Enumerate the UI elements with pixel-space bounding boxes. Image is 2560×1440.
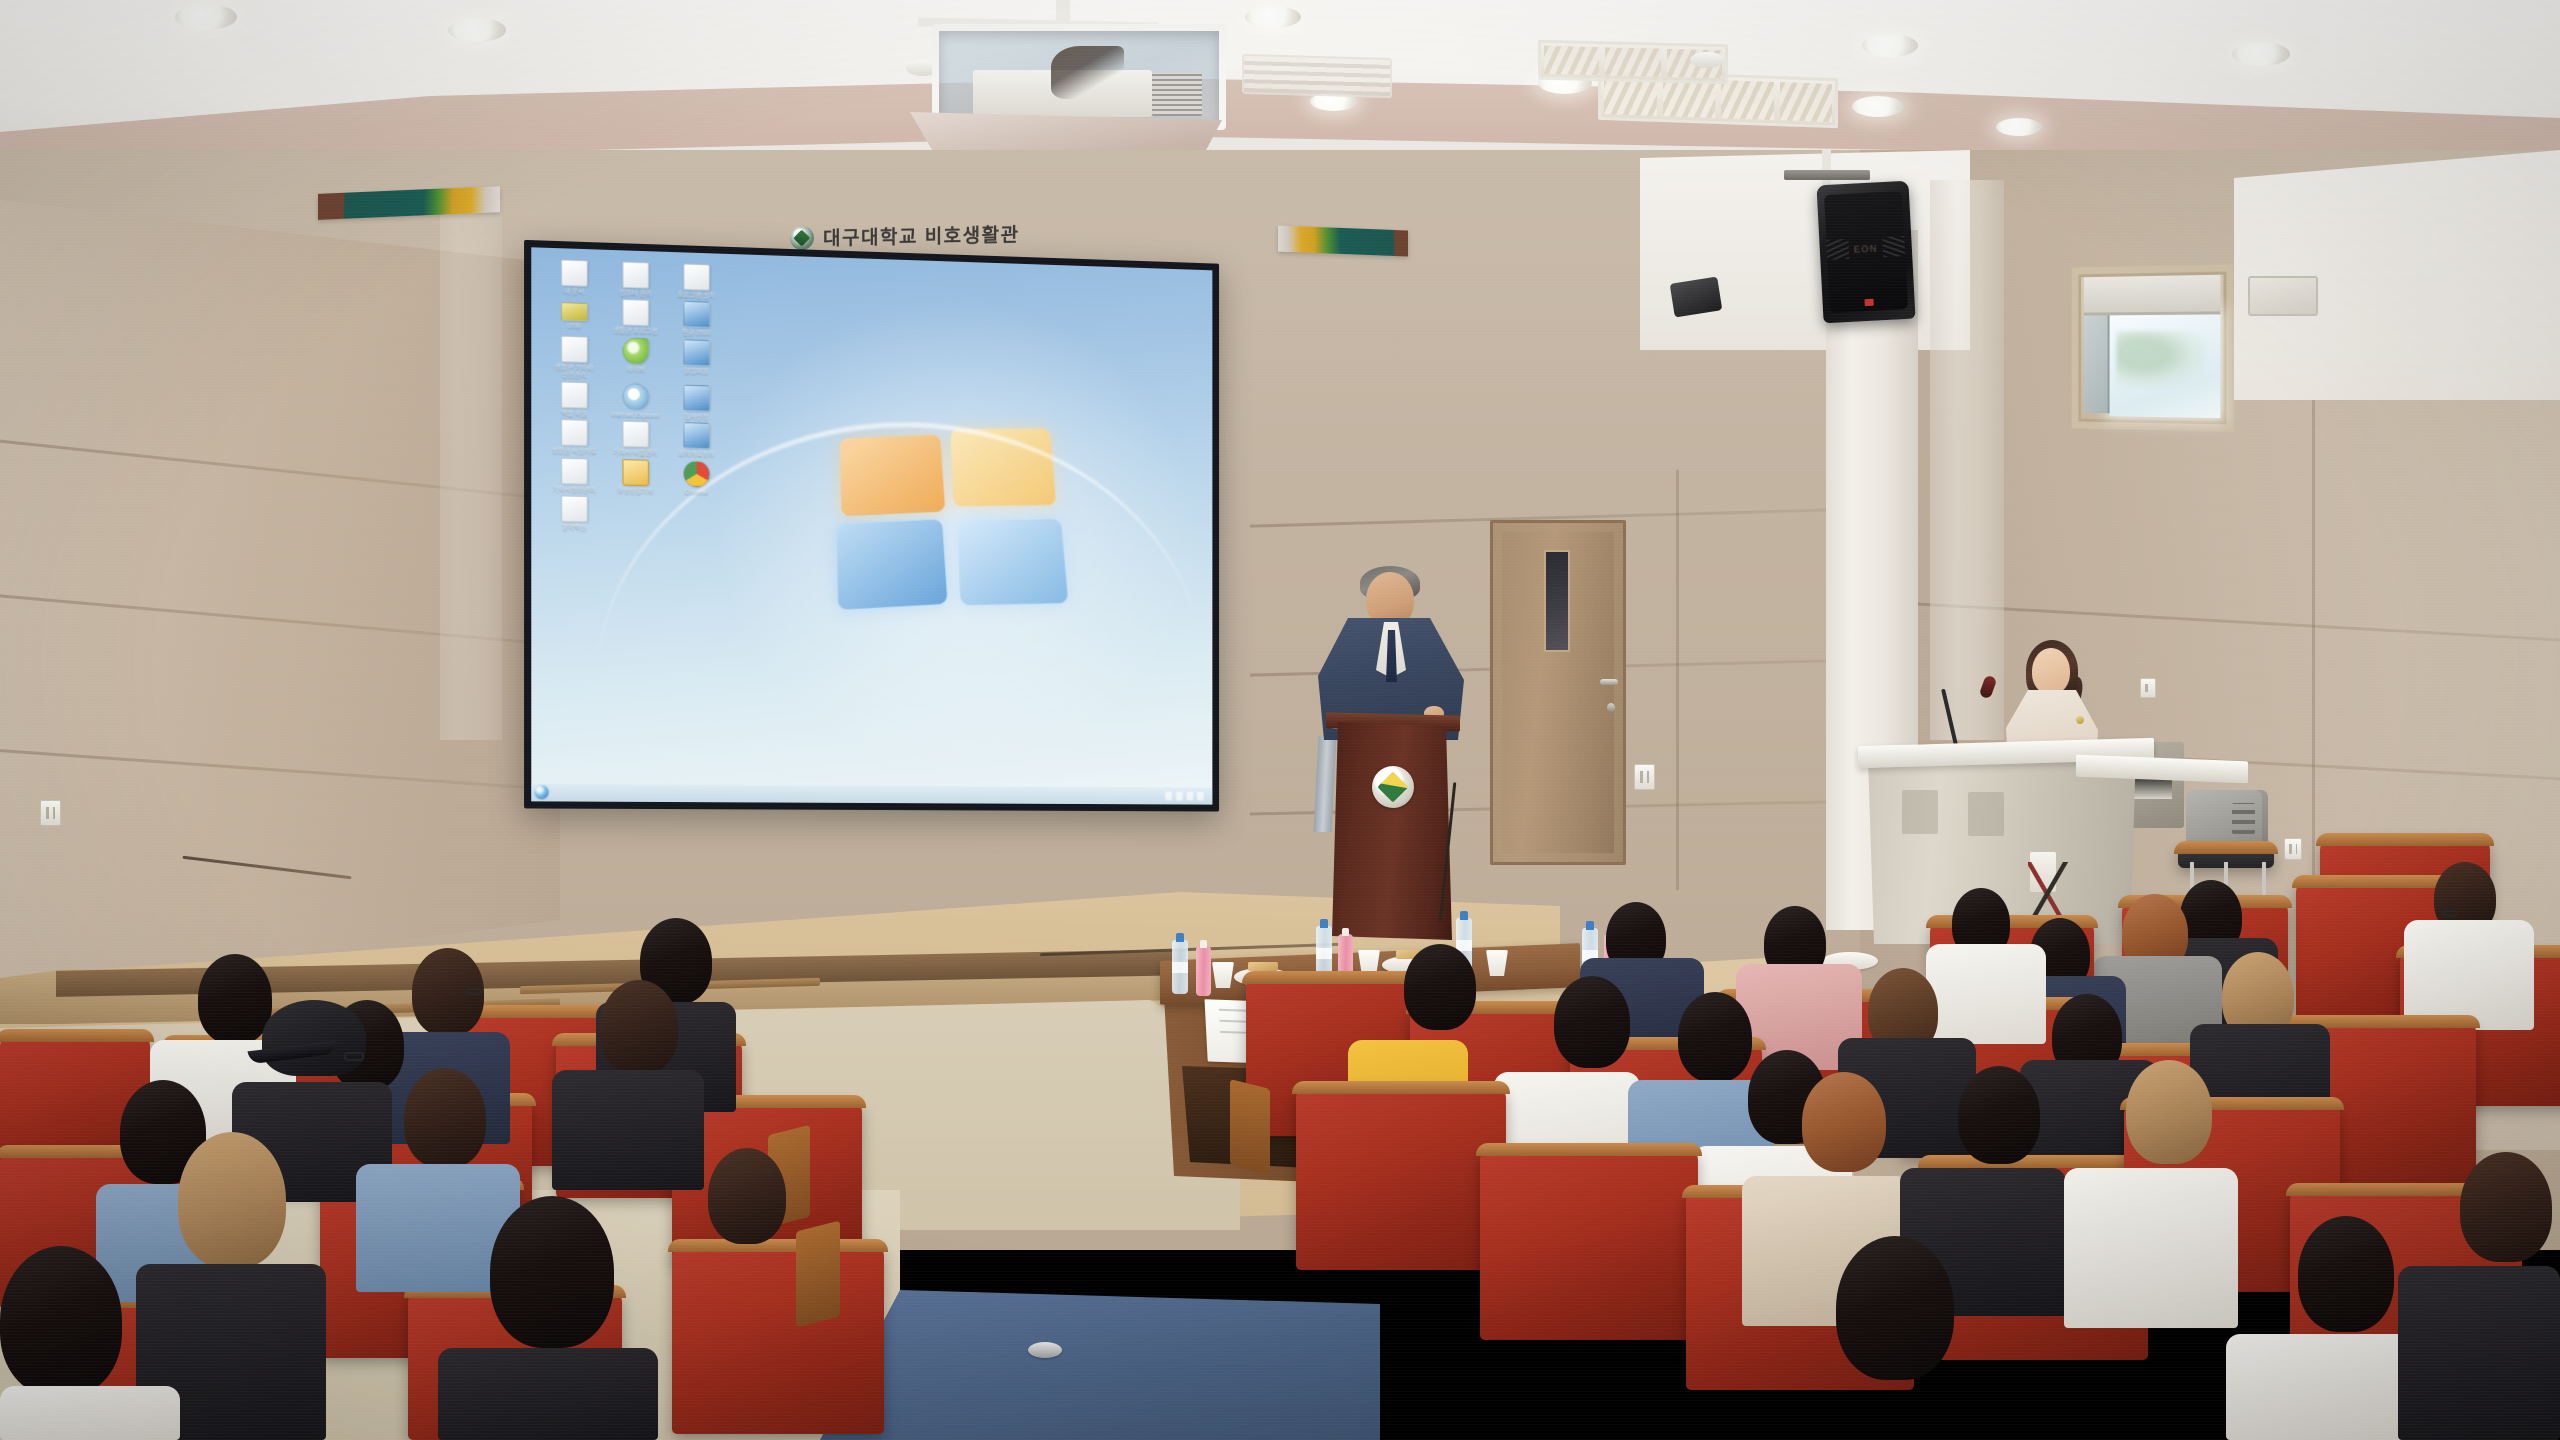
attendee-head — [2126, 1060, 2212, 1164]
tray-icon[interactable] — [1176, 792, 1183, 801]
desktop-icon[interactable]: 알약백신 — [545, 495, 602, 532]
presenter-head — [2032, 648, 2070, 694]
attendee-head — [490, 1196, 614, 1348]
desktop-icon-label: 컴퓨터 관리 — [607, 289, 664, 298]
air-vent-icon — [1242, 54, 1392, 98]
downlight-icon — [1852, 96, 1904, 117]
attendee-torso — [552, 1070, 704, 1190]
attendee-head — [600, 980, 678, 1074]
g-doc-icon — [683, 263, 709, 290]
desktop-icon-label: Chrome — [668, 488, 725, 497]
floor-cable-port-icon[interactable] — [1028, 1342, 1062, 1358]
g-doc-icon — [561, 496, 588, 523]
desktop-icon[interactable]: Chrome — [668, 460, 725, 497]
building-name-sign: 대구대학교 비호생활관 — [790, 220, 1020, 251]
desktop-icon-row: 알약백신 — [545, 495, 932, 538]
window-foliage-view — [2116, 331, 2206, 388]
seat-armrest — [1230, 1079, 1270, 1175]
attendee-head — [1554, 976, 1630, 1068]
power-outlet-icon[interactable] — [1634, 764, 1655, 790]
attendee-head — [1802, 1072, 1886, 1172]
g-doc-icon — [561, 259, 588, 286]
system-tray[interactable] — [1165, 792, 1207, 801]
screen-surface: 내 문서컴퓨터 관리프로그램 설치USB생활관 프로그램한글 2010생활관 기… — [531, 247, 1212, 804]
smoke-detector-icon — [1690, 52, 1724, 68]
g-blue-icon — [683, 423, 709, 450]
window-glass — [2110, 311, 2220, 418]
auditorium-seat[interactable] — [1296, 1086, 1506, 1270]
desktop-icon[interactable]: USB — [545, 297, 602, 335]
desktop-icon-label: 알약백신 — [545, 524, 602, 533]
tray-icon[interactable] — [1165, 792, 1172, 801]
desk-panel — [1968, 792, 2004, 836]
desktop-icon-row: 생활관 사진자료기숙사 비품관리회의자료정리 — [545, 419, 932, 464]
university-emblem-icon — [790, 225, 814, 249]
wall-seam — [2312, 340, 2315, 880]
presenter-lapel-pin — [2076, 716, 2084, 724]
attendee-torso — [2226, 1334, 2426, 1440]
attendee-head — [1678, 992, 1752, 1082]
desktop-icon-label: 알집파일 — [668, 367, 725, 376]
downlight-icon — [448, 18, 506, 42]
desktop-icon[interactable]: 입사신청 — [668, 384, 725, 421]
desktop-icon-label: 한글 2010 — [668, 329, 725, 338]
upper-wall-white — [2234, 150, 2560, 400]
attendee-head — [1958, 1066, 2040, 1164]
room-door[interactable] — [1490, 520, 1626, 865]
desk-panel — [1902, 790, 1938, 834]
aisle-runner — [820, 1290, 1380, 1440]
tray-icon[interactable] — [1186, 792, 1193, 801]
desktop-icon-row: 생활관 기숙사 신청관리네이버알집파일 — [545, 335, 932, 389]
g-doc-icon — [622, 299, 648, 326]
g-doc-icon — [622, 421, 648, 448]
lectern-emblem-icon — [1372, 766, 1414, 808]
attendee-head — [404, 1068, 486, 1168]
desktop-icon[interactable]: Internet Explorer — [607, 383, 664, 420]
eyeglasses-icon — [466, 988, 482, 995]
projector-vent-grill — [1152, 73, 1202, 115]
start-button-icon[interactable] — [534, 785, 548, 799]
wall-seam — [1676, 470, 1679, 890]
desktop-icon-label: 프로그램 설치 — [668, 291, 725, 300]
desktop-icon-label: 생활관 기숙사 신청관리 — [545, 364, 602, 381]
desktop-icon[interactable]: 회의자료정리 — [668, 422, 725, 459]
door-vision-panel — [1544, 550, 1570, 652]
g-blue-icon — [683, 301, 709, 328]
downlight-icon — [175, 4, 237, 30]
g-doc-icon — [561, 381, 588, 408]
attendee-cap — [262, 1000, 366, 1076]
desktop-icon[interactable]: 한글 2010 — [668, 301, 725, 339]
upper-wall-white — [1640, 150, 1970, 350]
tray-icon[interactable] — [1197, 792, 1204, 801]
attendee-head — [1836, 1236, 1954, 1380]
window-side-pane — [2084, 315, 2110, 413]
desktop-icon-label: 기숙사행정관리 — [545, 486, 602, 495]
desktop-icon[interactable]: 네이버 — [607, 337, 664, 382]
desktop-icon-label: Internet Explorer — [607, 411, 664, 420]
desktop-grid-spacer — [729, 265, 825, 304]
desktop-icon[interactable]: 학생상담기록 — [607, 459, 664, 496]
speaker-logo-badge — [1865, 299, 1874, 306]
desktop-icon-label: 학생상담기록 — [607, 487, 664, 496]
attendee-head — [198, 954, 272, 1044]
building-name-text: 대구대학교 비호생활관 — [823, 220, 1020, 251]
desktop-icon[interactable]: 생활관 기숙사 신청관리 — [545, 335, 602, 380]
desktop-icon-row: 기숙사행정관리학생상담기록Chrome — [545, 457, 932, 501]
downlight-icon — [1862, 34, 1918, 57]
auditorium-photo: 대구대학교 비호생활관 내 문서컴퓨터 관리프로그램 설치USB생활관 프로그램… — [0, 0, 2560, 1440]
pink-drink-bottle[interactable] — [1196, 946, 1211, 996]
desktop-icon[interactable]: 내 문서 — [545, 259, 602, 297]
power-outlet-icon[interactable] — [40, 800, 61, 826]
eyeglasses-icon — [2442, 910, 2458, 917]
desktop-icon-label: 내 문서 — [545, 287, 602, 296]
auditorium-seat[interactable] — [672, 1244, 884, 1434]
window-roller-blind[interactable] — [2084, 275, 2220, 316]
desktop-icon[interactable]: 알집파일 — [668, 339, 725, 384]
g-ie-icon — [622, 383, 648, 410]
desktop-icon[interactable]: 컴퓨터 관리 — [607, 261, 664, 299]
speaker-port-right — [1882, 236, 1905, 257]
power-outlet-icon[interactable] — [2140, 678, 2156, 698]
attendee-head — [2298, 1216, 2394, 1332]
desktop-icon-label: 네이버 — [607, 365, 664, 374]
attendee-torso — [0, 1386, 180, 1440]
exterior-window — [2072, 264, 2234, 431]
structural-pillar — [440, 200, 502, 740]
downlight-icon — [2232, 42, 2290, 66]
projector-cables — [1051, 46, 1124, 99]
speaker-brand-text: EON — [1854, 243, 1879, 254]
desktop-icon-label: 생활관 프로그램 — [607, 327, 664, 336]
g-usb-icon — [561, 303, 588, 322]
g-chrome-icon — [683, 460, 709, 487]
attendee-torso — [1926, 944, 2046, 1044]
g-doc-icon — [622, 261, 648, 288]
attendee-head — [708, 1148, 786, 1244]
wall-control-panel[interactable] — [2248, 276, 2318, 316]
desktop-icon-label: 기숙사 비품관리 — [607, 449, 664, 458]
speaker-mount-plate — [1784, 170, 1870, 180]
auditorium-seat[interactable] — [1480, 1148, 1698, 1340]
eyeglasses-icon — [344, 1052, 364, 1061]
windows-taskbar[interactable] — [531, 784, 1212, 805]
downlight-icon — [1996, 118, 2042, 136]
downlight-icon — [1245, 6, 1301, 28]
attendee-head — [0, 1246, 122, 1396]
door-lock-icon[interactable] — [1607, 703, 1615, 712]
lectern — [1332, 722, 1452, 940]
attendee-torso — [2404, 920, 2534, 1030]
g-doc-icon — [561, 336, 588, 363]
attendee-head — [2460, 1152, 2552, 1262]
desktop-icon-label: 입사신청 — [668, 413, 725, 422]
g-folder-icon — [622, 459, 648, 486]
seat-armrest — [796, 1221, 840, 1328]
desktop-icon-grid: 내 문서컴퓨터 관리프로그램 설치USB생활관 프로그램한글 2010생활관 기… — [545, 259, 932, 541]
desktop-icon[interactable]: 프로그램 설치 — [668, 263, 725, 301]
g-blue-icon — [683, 385, 709, 412]
desktop-icon-label: 엑셀 파일 — [545, 409, 602, 418]
desktop-icon[interactable]: 기숙사행정관리 — [545, 457, 602, 494]
pa-loudspeaker: EON — [1816, 181, 1915, 324]
attendee-head — [178, 1132, 286, 1268]
decorative-banner-right — [1278, 226, 1408, 257]
speaker-port-left — [1827, 239, 1850, 260]
desktop-icon[interactable]: 생활관 프로그램 — [607, 299, 664, 337]
desktop-icon-label: 생활관 사진자료 — [545, 448, 602, 457]
door-handle-icon[interactable] — [1600, 679, 1618, 685]
g-green-icon — [622, 337, 648, 364]
desktop-icon[interactable]: 생활관 사진자료 — [545, 419, 602, 456]
attendee-head — [1404, 944, 1476, 1030]
g-doc-icon — [561, 458, 588, 485]
water-bottle[interactable] — [1172, 940, 1188, 994]
attendee-torso — [438, 1348, 658, 1440]
g-doc-icon — [561, 419, 588, 446]
power-outlet-icon[interactable] — [2284, 838, 2302, 860]
snack-item — [1248, 962, 1278, 971]
projection-screen: 내 문서컴퓨터 관리프로그램 설치USB생활관 프로그램한글 2010생활관 기… — [524, 240, 1219, 812]
attendee-torso — [2398, 1266, 2560, 1440]
g-blue-icon — [683, 339, 709, 366]
desktop-icon-label: USB — [545, 322, 602, 331]
desktop-icon[interactable]: 기숙사 비품관리 — [607, 421, 664, 458]
attendee-torso — [2064, 1168, 2238, 1328]
desktop-icon-label: 회의자료정리 — [668, 450, 725, 459]
structural-pillar — [1930, 180, 2004, 740]
desktop-icon[interactable]: 엑셀 파일 — [545, 381, 602, 419]
